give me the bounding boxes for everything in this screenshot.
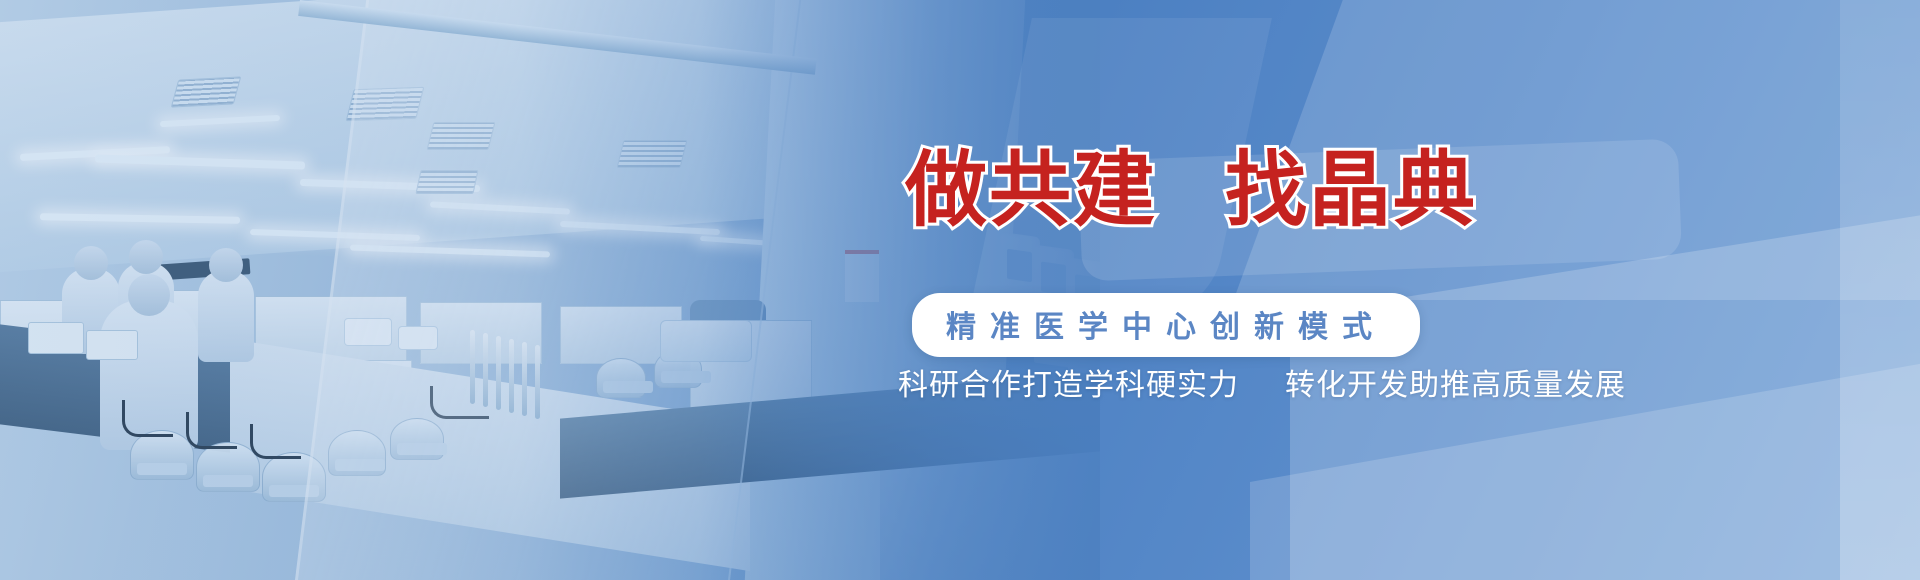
tagline-right: 转化开发助推高质量发展 [1285, 360, 1626, 404]
tagline-left: 科研合作打造学科硬实力 [898, 360, 1239, 404]
headline-part-1: 做共建 [905, 150, 1157, 232]
banner-content: 做共建 找晶典 精准医学中心创新模式 科研合作打造学科硬实力 转化开发助推高质量… [0, 0, 1920, 580]
promo-banner: 做共建 找晶典 精准医学中心创新模式 科研合作打造学科硬实力 转化开发助推高质量… [0, 0, 1920, 580]
subtitle-text: 精准医学中心创新模式 [946, 302, 1386, 346]
headline-part-2: 找晶典 [1225, 150, 1477, 232]
subtitle-pill-bar: 精准医学中心创新模式 [912, 293, 1420, 357]
tagline-row: 科研合作打造学科硬实力 转化开发助推高质量发展 [898, 360, 1558, 404]
headline: 做共建 找晶典 [905, 150, 1477, 232]
